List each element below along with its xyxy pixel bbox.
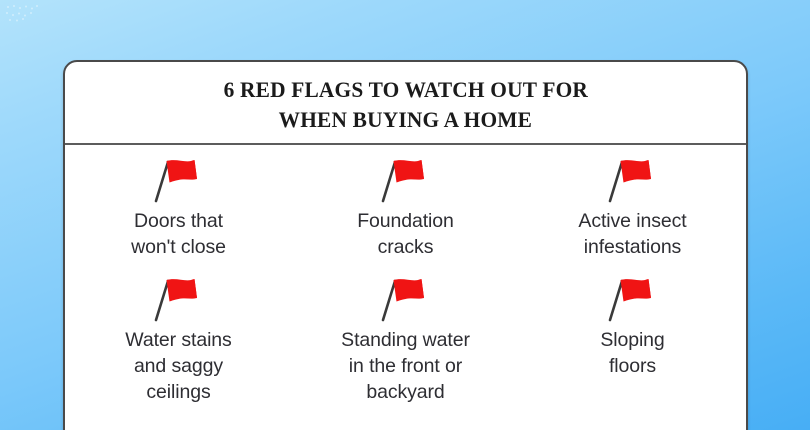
flag-item-label: Standing water in the front or backyard xyxy=(341,328,470,405)
card-body: Doors that won't close Foundation cracks… xyxy=(65,145,746,406)
flag-item-active-insect-infestations: Active insect infestations xyxy=(519,145,746,260)
page-title-line-2: WHEN BUYING A HOME xyxy=(279,105,532,135)
flag-item-standing-water: Standing water in the front or backyard xyxy=(292,260,519,405)
flag-item-label: Doors that won't close xyxy=(131,209,226,260)
flag-item-water-stains-saggy-ceilings: Water stains and saggy ceilings xyxy=(65,260,292,405)
page-title-line-1: 6 RED FLAGS TO WATCH OUT FOR xyxy=(223,75,587,105)
card-header: 6 RED FLAGS TO WATCH OUT FOR WHEN BUYING… xyxy=(65,62,746,145)
watermark-dots-icon xyxy=(4,4,40,24)
flag-row-1: Doors that won't close Foundation cracks… xyxy=(65,145,746,260)
flag-item-foundation-cracks: Foundation cracks xyxy=(292,145,519,260)
flag-item-sloping-floors: Sloping floors xyxy=(519,260,746,405)
flag-item-label: Foundation cracks xyxy=(357,209,454,260)
flag-item-label: Active insect infestations xyxy=(578,209,686,260)
red-flag-icon xyxy=(604,276,662,322)
red-flag-icon xyxy=(377,276,435,322)
flag-item-label: Sloping floors xyxy=(600,328,664,379)
red-flag-icon xyxy=(604,157,662,203)
flag-item-doors-that-wont-close: Doors that won't close xyxy=(65,145,292,260)
red-flag-icon xyxy=(150,157,208,203)
flag-row-2: Water stains and saggy ceilings Standing… xyxy=(65,260,746,405)
infographic-card: 6 RED FLAGS TO WATCH OUT FOR WHEN BUYING… xyxy=(63,60,748,430)
red-flag-icon xyxy=(377,157,435,203)
flag-item-label: Water stains and saggy ceilings xyxy=(125,328,231,405)
red-flag-icon xyxy=(150,276,208,322)
